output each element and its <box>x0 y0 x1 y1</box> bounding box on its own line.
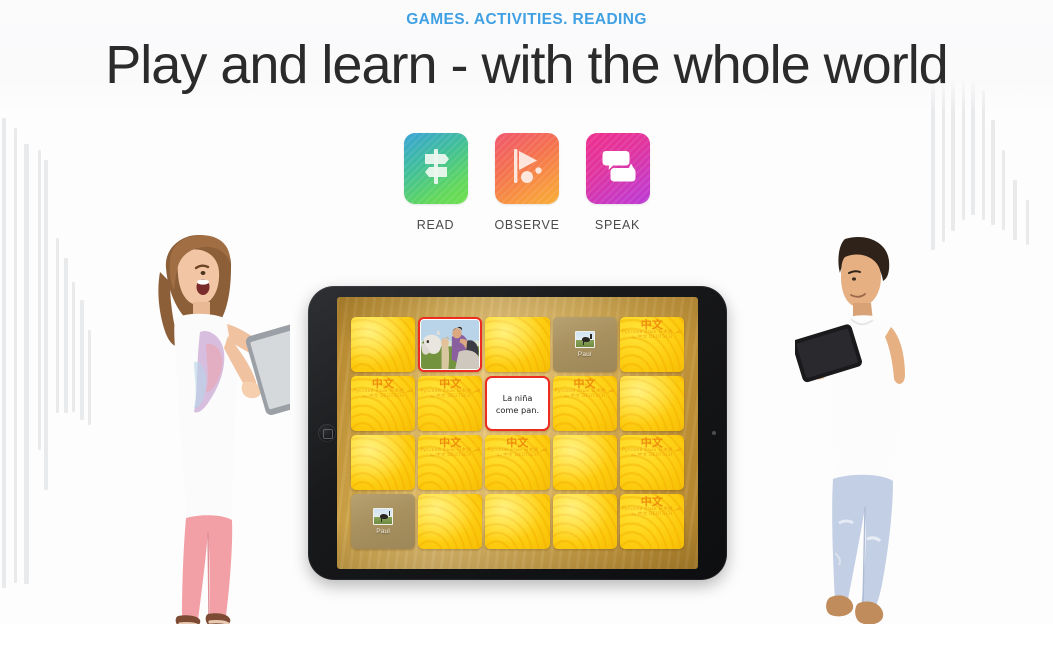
soundwave-bar <box>88 330 91 425</box>
card-back-glyph-big: 中文 <box>420 437 480 448</box>
signpost-icon <box>419 146 453 191</box>
memory-card[interactable]: 中文 Русский язык 日本語 العربية 中文 DEUTSCH <box>620 494 684 549</box>
memory-card-name[interactable]: Paul <box>351 494 415 549</box>
memory-card-text-selected[interactable]: La niña come pan. <box>485 376 549 431</box>
feature-observe-label: OBSERVE <box>495 218 559 232</box>
soundwave-bar <box>80 300 84 420</box>
hero-eyebrow: GAMES. ACTIVITIES. READING <box>0 11 1053 29</box>
card-back-glyph-big: 中文 <box>622 496 682 507</box>
memory-card-name[interactable]: Paul <box>553 317 617 372</box>
card-back-glyph-big: 中文 <box>555 378 615 389</box>
memory-card[interactable]: 中文 Русский язык 日本語 العربية 中文 DEUTSCH <box>620 435 684 490</box>
feature-read-label: READ <box>404 218 468 232</box>
feature-speak-tile[interactable] <box>586 133 650 204</box>
memory-card[interactable] <box>553 435 617 490</box>
card-back-glyph-small: Русский язык 日本語 العربية 中文 DEUTSCH <box>555 389 615 399</box>
card-back-glyphs: 中文 Русский язык 日本語 العربية 中文 DEUTSCH <box>622 319 682 371</box>
memory-card[interactable] <box>553 494 617 549</box>
memory-card[interactable] <box>485 317 549 372</box>
flag-icon <box>509 146 545 191</box>
feature-speak-label: SPEAK <box>586 218 650 232</box>
memory-game-grid: Paul 中文 Русский язык 日本語 العربية 中文 DEUT… <box>351 317 684 549</box>
card-back-glyph-big: 中文 <box>420 378 480 389</box>
feature-list: READ OBSERVE <box>0 133 1053 232</box>
card-back-glyphs: 中文 Русский язык 日本語 العربية 中文 DEUTSCH <box>353 378 413 430</box>
card-back-glyphs: 中文 Русский язык 日本語 العربية 中文 DEUTSCH <box>622 437 682 489</box>
bird-thumbnail-icon <box>575 331 595 348</box>
memory-card[interactable]: 中文 Русский язык 日本語 العربية 中文 DEUTSCH <box>620 317 684 372</box>
soundwave-bar <box>72 282 75 412</box>
feature-observe-tile[interactable] <box>495 133 559 204</box>
memory-card[interactable]: 中文 Русский язык 日本語 العربية 中文 DEUTSCH <box>351 376 415 431</box>
tablet-screen: Paul 中文 Русский язык 日本語 العربية 中文 DEUT… <box>337 297 698 569</box>
memory-card[interactable]: 中文 Русский язык 日本語 العربية 中文 DEUTSCH <box>485 435 549 490</box>
memory-card[interactable] <box>351 435 415 490</box>
home-button-icon[interactable] <box>318 424 336 442</box>
hero-header: GAMES. ACTIVITIES. READING Play and lear… <box>0 0 1053 94</box>
card-back-glyph-small: Русский язык 日本語 العربية 中文 DEUTSCH <box>488 448 548 458</box>
card-back-glyph-small: Русский язык 日本語 العربية 中文 DEUTSCH <box>420 448 480 458</box>
soundwave-bar <box>56 238 59 413</box>
card-back-glyph-small: Русский язык 日本語 العربية 中文 DEUTSCH <box>622 448 682 458</box>
feature-read[interactable]: READ <box>404 133 468 232</box>
feature-observe[interactable]: OBSERVE <box>495 133 559 232</box>
memory-card-name-label: Paul <box>578 351 592 358</box>
chat-bubbles-icon <box>598 147 638 190</box>
card-back-glyph-small: Русский язык 日本語 العربية 中文 DEUTSCH <box>420 389 480 399</box>
card-back-glyphs: 中文 Русский язык 日本語 العربية 中文 DEUTSCH <box>420 378 480 430</box>
memory-card[interactable] <box>620 376 684 431</box>
memory-card[interactable]: 中文 Русский язык 日本語 العربية 中文 DEUTSCH <box>418 376 482 431</box>
card-back-glyph-small: Русский язык 日本語 العربية 中文 DEUTSCH <box>622 507 682 517</box>
card-back-glyph-big: 中文 <box>622 319 682 330</box>
page-title: Play and learn - with the whole world <box>0 36 1053 94</box>
memory-card[interactable]: 中文 Русский язык 日本語 العربية 中文 DEUTSCH <box>418 435 482 490</box>
soundwave-bar <box>64 258 68 413</box>
card-back-glyph-big: 中文 <box>487 437 547 448</box>
card-back-glyph-big: 中文 <box>353 378 413 389</box>
woman-with-tablet <box>130 232 290 630</box>
memory-card-photo-selected[interactable] <box>418 317 482 372</box>
bottom-fade-overlay <box>0 624 1053 646</box>
front-camera-icon <box>712 431 716 435</box>
card-back-glyphs: 中文 Русский язык 日本語 العربية 中文 DEUTSCH <box>420 437 480 489</box>
memory-card-text-label: La niña come pan. <box>490 392 544 416</box>
feature-speak[interactable]: SPEAK <box>586 133 650 232</box>
page-root: GAMES. ACTIVITIES. READING Play and lear… <box>0 0 1053 646</box>
feature-read-tile[interactable] <box>404 133 468 204</box>
man-with-tablet <box>795 233 920 629</box>
card-back-glyphs: 中文 Русский язык 日本語 العربية 中文 DEUTSCH <box>622 496 682 548</box>
memory-card[interactable] <box>351 317 415 372</box>
memory-card[interactable] <box>418 494 482 549</box>
card-back-glyphs: 中文 Русский язык 日本語 العربية 中文 DEUTSCH <box>555 378 615 430</box>
card-back-glyphs: 中文 Русский язык 日本語 العربية 中文 DEUTSCH <box>487 437 547 489</box>
card-back-glyph-small: Русский язык 日本語 العربية 中文 DEUTSCH <box>622 330 682 340</box>
card-back-glyph-small: Русский язык 日本語 العربية 中文 DEUTSCH <box>353 389 413 399</box>
card-back-glyph-big: 中文 <box>622 437 682 448</box>
memory-card[interactable]: 中文 Русский язык 日本語 العربية 中文 DEUTSCH <box>553 376 617 431</box>
bird-thumbnail-icon <box>373 508 393 525</box>
memory-card[interactable] <box>485 494 549 549</box>
horse-photo <box>421 320 479 369</box>
tablet-device: Paul 中文 Русский язык 日本語 العربية 中文 DEUT… <box>308 286 727 580</box>
memory-card-name-label: Paul <box>376 528 390 535</box>
